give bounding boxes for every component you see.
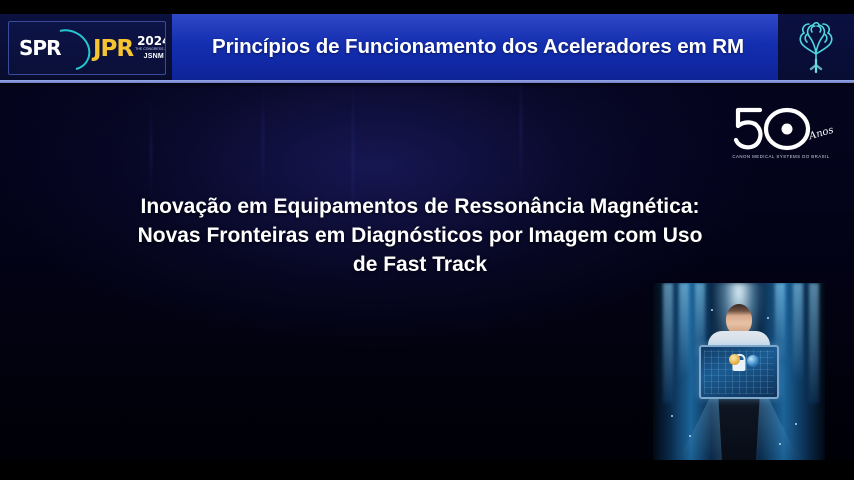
- jpr-side-stack: 2024 THE CONGRESS 2024 JSNM: [135, 35, 166, 60]
- title-line-1: Inovação em Equipamentos de Ressonância …: [80, 192, 760, 221]
- photo-spark: [689, 435, 691, 437]
- slide-photo: [653, 283, 825, 460]
- jpr-logo-text: JPR: [93, 38, 133, 61]
- letterbox-bottom: [0, 460, 854, 480]
- shield-badge-icon: [729, 354, 740, 365]
- tree-logo-plate: [778, 14, 854, 80]
- spr-jpr-congress-logo-icon: SPR JPR 2024 THE CONGRESS 2024 JSNM: [8, 21, 166, 75]
- photo-server-rack: [793, 283, 803, 379]
- slide-canvas: SPR JPR 2024 THE CONGRESS 2024 JSNM Prin…: [0, 14, 854, 460]
- photo-server-rack: [679, 283, 689, 379]
- photo-spark: [767, 317, 769, 319]
- title-line-3: de Fast Track: [80, 250, 760, 279]
- photo-spark: [671, 415, 673, 417]
- photo-server-rack: [663, 283, 673, 403]
- canon-50-anos-logo: Anos CANON MEDICAL SYSTEMS DO BRASIL 50: [726, 104, 836, 168]
- photo-spark: [711, 309, 713, 311]
- photo-tablet: [699, 345, 779, 399]
- globe-icon: [747, 355, 759, 367]
- jpr-org-text: JSNM: [144, 53, 164, 60]
- header-underline-shadow: [0, 83, 854, 88]
- background-streak: [262, 80, 264, 200]
- congress-logo-plate: SPR JPR 2024 THE CONGRESS 2024 JSNM: [0, 14, 172, 80]
- jpr-subline-text: THE CONGRESS 2024: [135, 48, 166, 51]
- tree-icon: [791, 20, 841, 74]
- photo-spark: [795, 423, 797, 425]
- jpr-year-text: 2024: [137, 35, 166, 47]
- spr-mark: SPR: [15, 28, 91, 68]
- photo-server-rack: [809, 283, 819, 403]
- canon-50-icon: [726, 104, 826, 152]
- background-streak: [150, 94, 152, 204]
- photo-person-legs: [714, 391, 764, 460]
- page-title: Princípios de Funcionamento dos Acelerad…: [178, 14, 778, 80]
- jpr-block: JPR 2024 THE CONGRESS 2024 JSNM: [93, 35, 166, 61]
- slide-main-title: Inovação em Equipamentos de Ressonância …: [80, 192, 760, 279]
- video-slide-stage: SPR JPR 2024 THE CONGRESS 2024 JSNM Prin…: [0, 0, 854, 480]
- canon-logo-caption: CANON MEDICAL SYSTEMS DO BRASIL: [726, 154, 836, 159]
- letterbox-top: [0, 0, 854, 14]
- title-line-2: Novas Fronteiras em Diagnósticos por Ima…: [80, 221, 760, 250]
- spr-swoosh-icon: [38, 22, 97, 75]
- photo-spark: [779, 443, 781, 445]
